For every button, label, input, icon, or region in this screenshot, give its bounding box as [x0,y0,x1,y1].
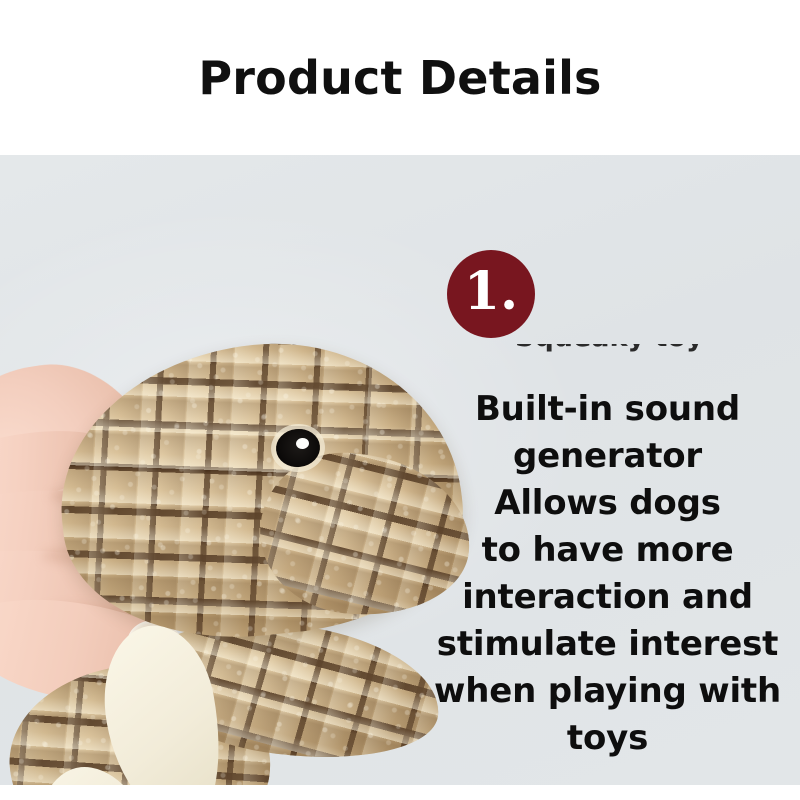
page-title: Product Details [0,54,800,102]
description-line: Allows dogs [415,480,800,527]
description-line: toys [415,715,800,762]
header-band: Product Details [0,0,800,155]
feature-callout: 1. Squeaky toy Built-in sound generator … [415,250,800,762]
description-line: Built-in sound [415,386,800,433]
description-line: interaction and [415,574,800,621]
description-line: to have more [415,527,800,574]
description-line: when playing with [415,668,800,715]
description-line: stimulate interest [415,621,800,668]
product-detail-page: Product Details [0,0,800,800]
step-number-badge: 1. [447,250,535,338]
clipped-heading: Squeaky toy [415,344,800,370]
clipped-heading-text: Squeaky toy [515,344,704,353]
feature-description: Built-in sound generator Allows dogs to … [415,386,800,762]
product-photo: 1. Squeaky toy Built-in sound generator … [0,155,800,785]
footer-band [0,785,800,800]
description-line: generator [415,433,800,480]
